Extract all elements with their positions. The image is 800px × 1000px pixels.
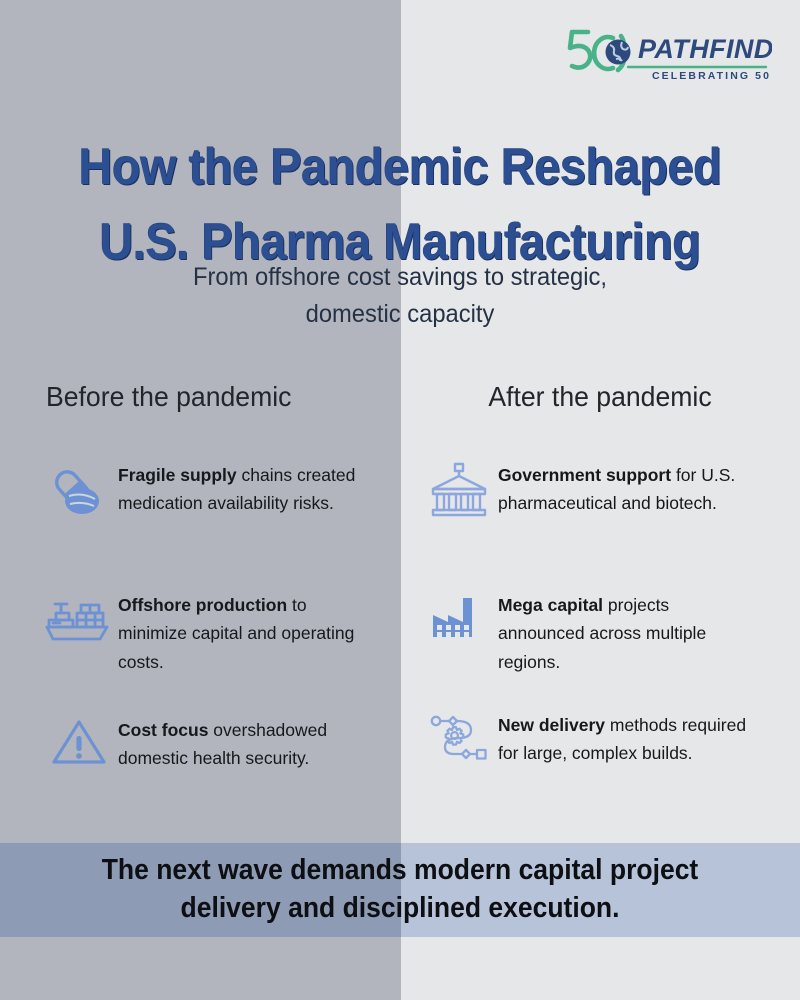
list-item: Government support for U.S. pharmaceutic… — [420, 455, 780, 573]
logo-tagline: CELEBRATING 50 YEARS — [652, 70, 772, 82]
list-item-lead: Cost focus — [118, 720, 208, 740]
logo-artwork: PATHFINDER CELEBRATING 50 YEARS — [566, 26, 772, 82]
list-item-lead: Fragile supply — [118, 465, 237, 485]
list-item: New delivery methods required for large,… — [420, 705, 780, 777]
page-subtitle-line-1: From offshore cost savings to strategic, — [193, 263, 607, 291]
list-item-text: Cost focus overshadowed domestic health … — [118, 710, 368, 773]
logo-wordmark: PATHFINDER — [638, 34, 772, 64]
page-title-line-1: How the Pandemic Reshaped — [79, 138, 722, 195]
infographic-page: PATHFINDER CELEBRATING 50 YEARS How the … — [0, 0, 800, 1000]
list-item-lead: New delivery — [498, 715, 605, 735]
list-item-lead: Government support — [498, 465, 671, 485]
after-pandemic-list: Government support for U.S. pharmaceutic… — [420, 455, 780, 789]
warning-triangle-icon — [40, 710, 118, 782]
bottom-banner: The next wave demands modern capital pro… — [0, 843, 800, 937]
list-item-text: Government support for U.S. pharmaceutic… — [498, 455, 748, 518]
banner-text-line-1: The next wave demands modern capital pro… — [102, 852, 699, 890]
page-subtitle-line-2: domestic capacity — [115, 296, 685, 333]
pathfinder-logo: PATHFINDER CELEBRATING 50 YEARS — [566, 26, 772, 82]
list-item-lead: Mega capital — [498, 595, 603, 615]
list-item: Fragile supply chains created medication… — [40, 455, 400, 573]
list-item: Mega capital projects announced across m… — [420, 585, 780, 693]
column-heading-before: Before the pandemic — [46, 381, 369, 413]
banner-text: The next wave demands modern capital pro… — [28, 843, 772, 937]
before-pandemic-list: Fragile supply chains created medication… — [40, 455, 400, 794]
page-title: How the Pandemic ReshapedU.S. Pharma Man… — [32, 130, 768, 279]
list-item-text: New delivery methods required for large,… — [498, 705, 748, 768]
column-heading-after: After the pandemic — [439, 381, 762, 413]
pill-capsule-icon — [40, 455, 118, 527]
list-item-text: Fragile supply chains created medication… — [118, 455, 368, 518]
government-building-icon — [420, 455, 498, 527]
factory-icon — [420, 585, 498, 657]
process-flow-gear-icon — [420, 705, 498, 777]
list-item-text: Offshore production to minimize capital … — [118, 585, 368, 676]
list-item: Offshore production to minimize capital … — [40, 585, 400, 698]
banner-text-line-2: delivery and disciplined execution. — [181, 890, 620, 928]
list-item: Cost focus overshadowed domestic health … — [40, 710, 400, 782]
cargo-ship-icon — [40, 585, 118, 657]
list-item-text: Mega capital projects announced across m… — [498, 585, 748, 676]
page-subtitle: From offshore cost savings to strategic,… — [115, 259, 685, 333]
list-item-lead: Offshore production — [118, 595, 287, 615]
